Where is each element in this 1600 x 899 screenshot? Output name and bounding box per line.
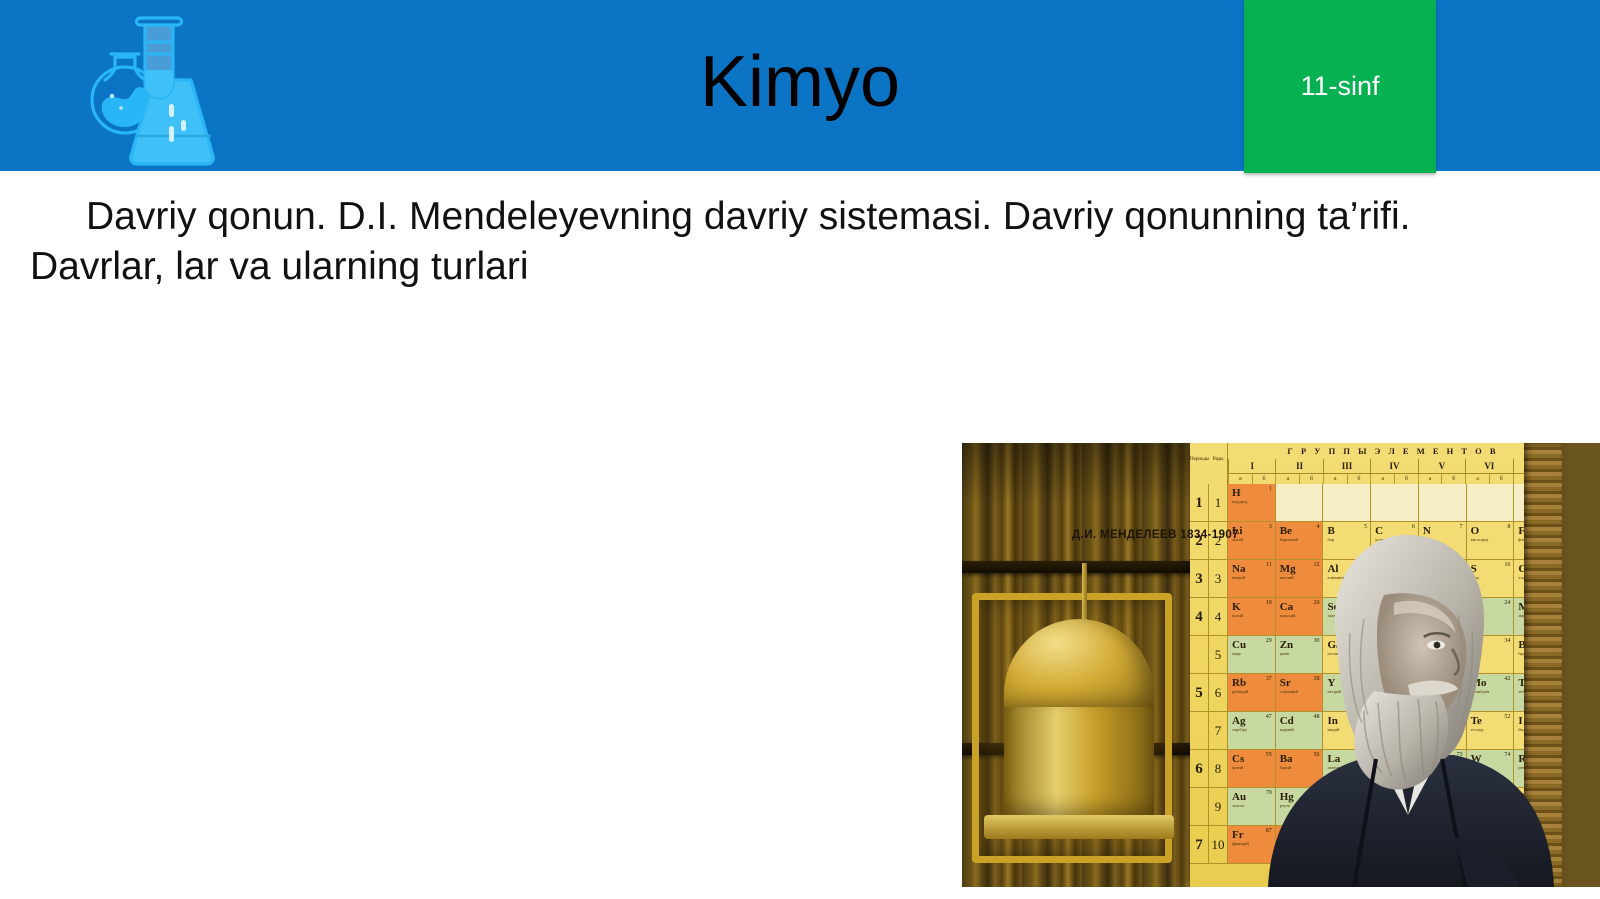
- series-number: 3: [1209, 560, 1228, 597]
- periodic-subgroup: б: [1489, 474, 1513, 484]
- series-number: 10: [1209, 826, 1228, 863]
- periodic-subgroup: а: [1323, 474, 1347, 484]
- corner-label-periods: Периоды: [1190, 443, 1209, 484]
- period-number: [1190, 636, 1209, 673]
- periodic-subgroup: а: [1370, 474, 1394, 484]
- period-number: 3: [1190, 560, 1209, 597]
- brass-base: [984, 815, 1174, 839]
- element-number: 1: [1269, 486, 1272, 492]
- period-number: [1190, 712, 1209, 749]
- periodic-table-corner: Периоды Ряды: [1190, 443, 1228, 484]
- period-number: 1: [1190, 484, 1209, 521]
- slide-body-text: Davriy qonun. D.I. Mendeleyevning davriy…: [30, 192, 1550, 292]
- periodic-subgroup: а: [1418, 474, 1442, 484]
- periodic-subgroup: а: [1275, 474, 1299, 484]
- period-number: 7: [1190, 826, 1209, 863]
- periodic-group-6: VI: [1465, 459, 1512, 474]
- corner-label-series: Ряды: [1209, 443, 1227, 484]
- series-number: 4: [1209, 598, 1228, 635]
- periodic-subgroup: а: [1465, 474, 1489, 484]
- periodic-subgroup: а: [1228, 474, 1252, 484]
- brass-vessel-body: [1004, 707, 1154, 819]
- periodic-table-header: Г Р У П П Ы Э Л Е М Е Н Т О В: [1228, 446, 1558, 456]
- mendeleev-attribution: Д.И. МЕНДЕЛЕЕВ 1834-1907: [1072, 529, 1239, 541]
- periodic-table-group-row: IIIIIIIVVVIVII: [1228, 459, 1560, 474]
- periodic-group-5: V: [1418, 459, 1465, 474]
- mendeleev-portrait: [1258, 515, 1558, 887]
- series-number: 7: [1209, 712, 1228, 749]
- period-number: 5: [1190, 674, 1209, 711]
- periodic-subgroup: б: [1394, 474, 1418, 484]
- grade-badge-label: 11-sinf: [1300, 73, 1379, 100]
- periodic-group-4: IV: [1370, 459, 1417, 474]
- periodic-group-3: III: [1323, 459, 1370, 474]
- periodic-subgroup: б: [1299, 474, 1323, 484]
- series-number: 1: [1209, 484, 1228, 521]
- periodic-table-subgroup-row: абабабабабабаб: [1228, 474, 1560, 484]
- series-number: 5: [1209, 636, 1228, 673]
- period-number: 4: [1190, 598, 1209, 635]
- grade-badge: 11-sinf: [1244, 0, 1436, 173]
- series-number: 6: [1209, 674, 1228, 711]
- period-number: [1190, 788, 1209, 825]
- period-number: 6: [1190, 750, 1209, 787]
- periodic-group-1: I: [1228, 459, 1275, 474]
- series-number: 9: [1209, 788, 1228, 825]
- periodic-group-2: II: [1275, 459, 1322, 474]
- periodic-subgroup: б: [1441, 474, 1465, 484]
- series-number: 8: [1209, 750, 1228, 787]
- periodic-subgroup: б: [1347, 474, 1371, 484]
- periodic-subgroup: б: [1252, 474, 1276, 484]
- mendeleev-periodic-table-image: Г Р У П П Ы Э Л Е М Е Н Т О В Периоды Ря…: [962, 443, 1600, 887]
- element-name: водород: [1232, 499, 1275, 504]
